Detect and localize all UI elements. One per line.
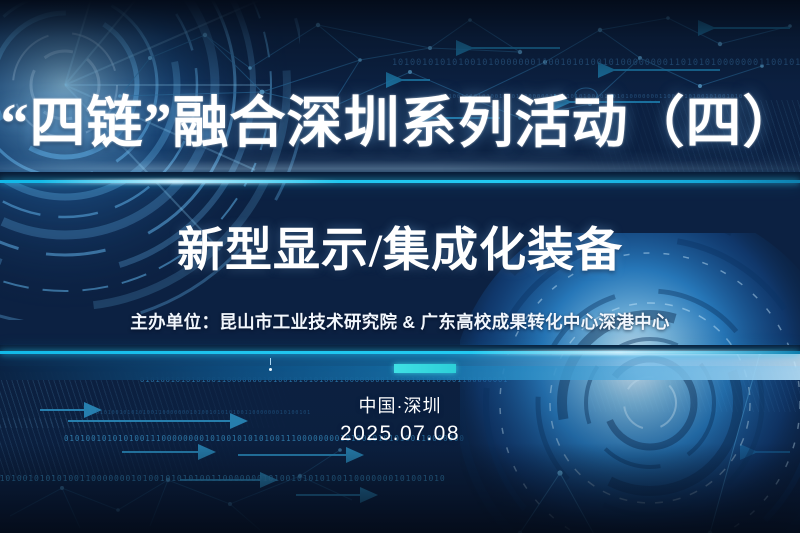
date-text: 2025.07.08 xyxy=(0,422,800,446)
event-poster: 1010010101010010100000001100101010010100… xyxy=(0,0,800,533)
organizer-line: 主办单位：昆山市工业技术研究院 & 广东高校成果转化中心深港中心 xyxy=(130,309,669,334)
main-title: “四链”融合深圳系列活动（四） xyxy=(1,96,800,152)
organizer-container: 主办单位：昆山市工业技术研究院 & 广东高校成果转化中心深港中心 xyxy=(0,309,800,334)
bottom-fade-overlay xyxy=(0,443,800,533)
main-title-container: “四链”融合深圳系列活动（四） xyxy=(0,96,800,152)
location-text: 中国·深圳 xyxy=(0,392,800,418)
dot-marker xyxy=(269,368,272,371)
subtitle: 新型显示/集成化装备 xyxy=(177,228,623,275)
footer-container: 中国·深圳 2025.07.08 xyxy=(0,392,800,446)
tick-marker xyxy=(270,358,271,365)
teal-highlight-chip xyxy=(394,364,456,373)
subtitle-container: 新型显示/集成化装备 xyxy=(0,228,800,275)
